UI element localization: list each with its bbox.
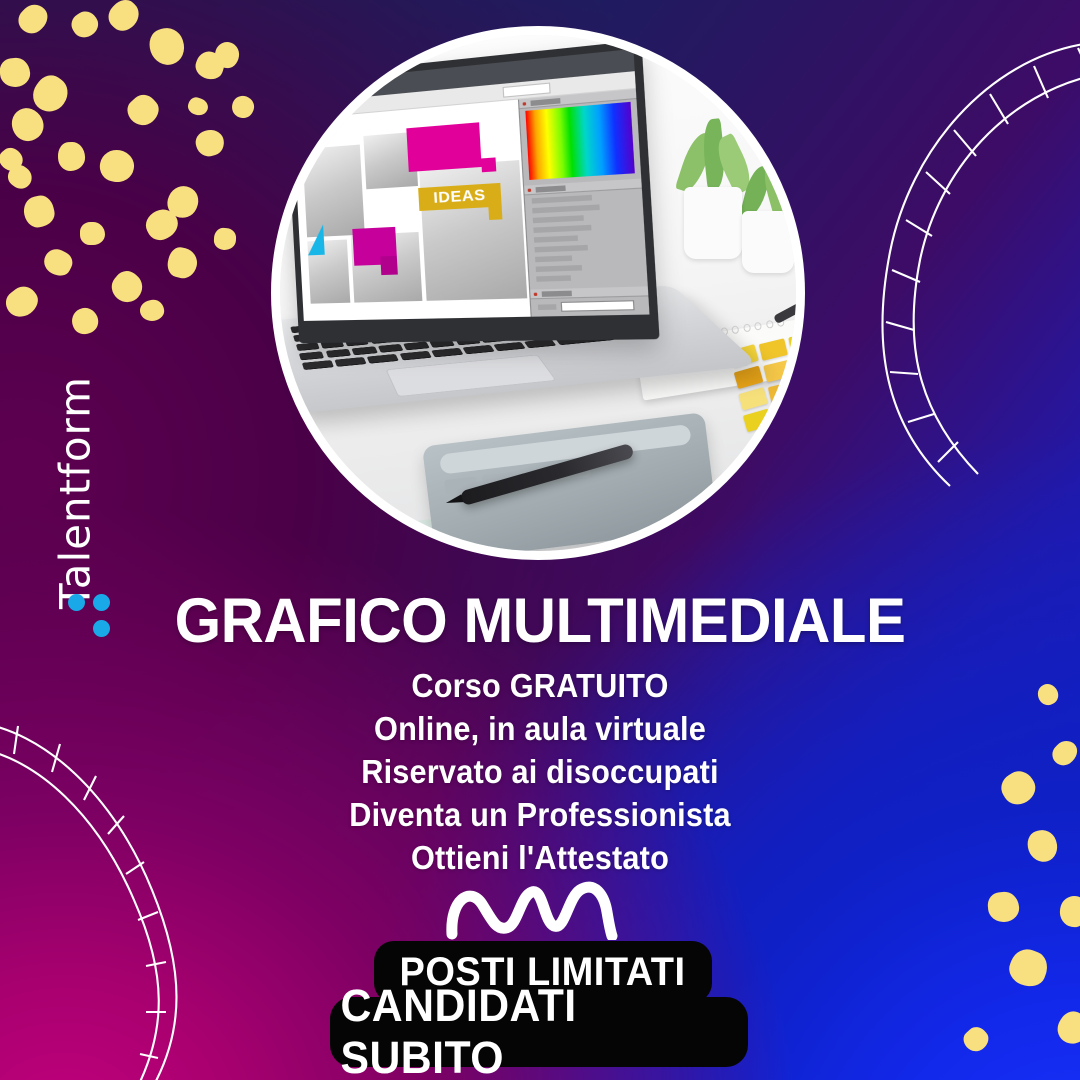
keyboard-key	[403, 341, 429, 350]
decorative-blob	[145, 24, 189, 70]
ladder-curve-top-right	[838, 38, 1080, 508]
decorative-blob	[213, 40, 240, 69]
decorative-blob	[6, 103, 49, 147]
decorative-blob	[186, 96, 210, 118]
list-item: Riservato ai disoccupati	[38, 750, 1042, 793]
list-item: Diventa un Professionista	[38, 793, 1042, 836]
decorative-blob	[141, 204, 183, 244]
color-swatch	[802, 397, 805, 419]
decorative-blob	[122, 90, 163, 131]
decorative-blob	[213, 227, 236, 250]
keyboard-key	[462, 345, 494, 354]
page-title: GRAFICO MULTIMEDIALE	[27, 588, 1053, 654]
decorative-blob	[1051, 1006, 1080, 1050]
decorative-blob	[1058, 894, 1080, 928]
decorative-blob	[1005, 945, 1052, 992]
list-item: Ottieni l'Attestato	[38, 836, 1042, 879]
decorative-blob	[67, 7, 103, 42]
design-canvas: IDEAS	[293, 100, 531, 321]
laptop-screen: IDEAS	[285, 40, 660, 343]
app-side-panel	[518, 89, 650, 317]
decorative-blob	[106, 266, 148, 308]
list-item: Corso GRATUITO	[38, 664, 1042, 707]
hero-photo-circle: IDEAS	[271, 26, 805, 560]
list-item: Online, in aula virtuale	[38, 707, 1042, 750]
decorative-blob	[959, 1023, 992, 1056]
keyboard-key	[399, 351, 431, 361]
keyboard-key	[431, 348, 463, 358]
keyboard-key	[299, 351, 325, 360]
color-swatch	[797, 376, 805, 398]
decorative-blob	[0, 57, 31, 89]
decorative-blob	[1, 281, 43, 323]
color-picker-gradient	[525, 102, 634, 180]
keyboard-key	[296, 342, 320, 351]
decorative-blob	[13, 0, 52, 39]
decorative-blob	[97, 147, 136, 184]
keyboard-key	[302, 360, 334, 370]
keyboard-key	[335, 357, 367, 367]
poster-canvas: Talentform	[0, 0, 1080, 1080]
squiggle-underline-icon	[444, 878, 626, 940]
decorative-blob	[987, 891, 1021, 924]
decorative-blob	[103, 0, 144, 36]
decorative-blob	[80, 222, 105, 245]
keyboard-key	[493, 342, 525, 351]
keyboard-key	[325, 349, 351, 358]
decorative-blob	[4, 161, 36, 193]
keyboard-key	[378, 344, 404, 353]
decorative-blob	[68, 304, 102, 338]
decorative-blob	[192, 48, 228, 83]
course-benefits-list: Corso GRATUITO Online, in aula virtuale …	[0, 664, 1080, 879]
decorative-blob	[165, 245, 200, 281]
decorative-blob	[21, 193, 57, 230]
decorative-blob	[40, 245, 76, 280]
decorative-blob	[0, 144, 27, 176]
decorative-blob	[163, 181, 203, 222]
decorative-blob	[57, 141, 85, 171]
decorative-blob	[27, 70, 74, 118]
cta-line2-text: CANDIDATI SUBITO	[340, 980, 737, 1080]
keyboard-key	[352, 346, 378, 355]
decorative-blob	[138, 298, 165, 323]
keyboard-key	[367, 354, 399, 364]
decorative-blob	[193, 127, 227, 160]
decorative-blob	[228, 92, 258, 122]
cta-apply-now-button[interactable]: CANDIDATI SUBITO	[330, 997, 748, 1067]
